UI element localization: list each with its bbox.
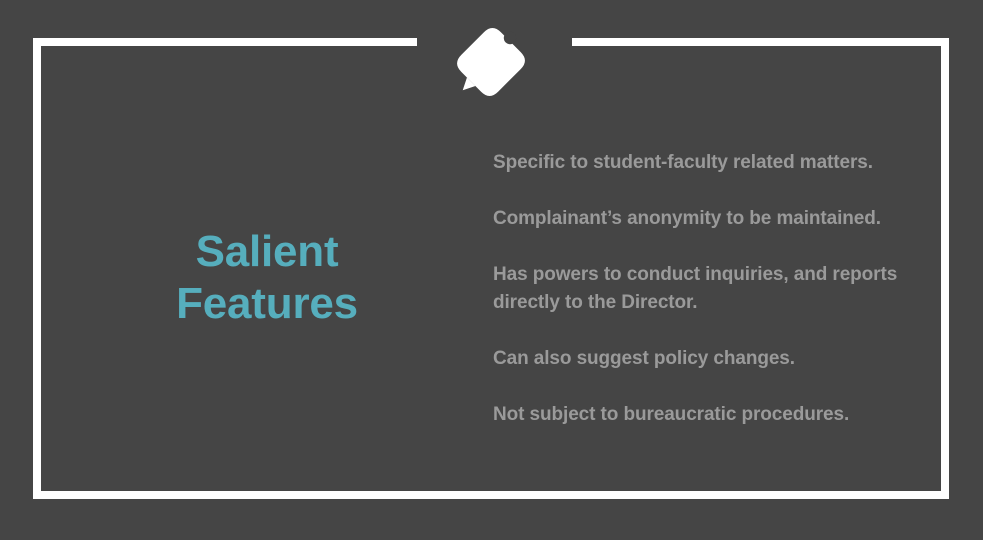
list-item: Specific to student-faculty related matt…	[493, 149, 925, 177]
title-line-2: Features	[176, 278, 358, 330]
slide-content: Salient Features Specific to student-fac…	[41, 46, 941, 491]
list-item: Not subject to bureaucratic procedures.	[493, 401, 925, 429]
frame-border-bottom	[33, 491, 949, 499]
list-item: Can also suggest policy changes.	[493, 345, 925, 373]
frame-border-top-left	[33, 38, 417, 46]
title-column: Salient Features	[41, 178, 493, 359]
frame-border-right	[941, 38, 949, 499]
page-title: Salient Features	[176, 226, 358, 330]
presentation-slide: Salient Features Specific to student-fac…	[0, 0, 983, 540]
title-line-1: Salient	[176, 226, 358, 278]
bullet-list: Specific to student-faculty related matt…	[493, 108, 941, 429]
list-item: Complainant’s anonymity to be maintained…	[493, 205, 925, 233]
frame-border-left	[33, 38, 41, 499]
list-item: Has powers to conduct inquiries, and rep…	[493, 261, 925, 317]
frame-border-top-right	[572, 38, 949, 46]
